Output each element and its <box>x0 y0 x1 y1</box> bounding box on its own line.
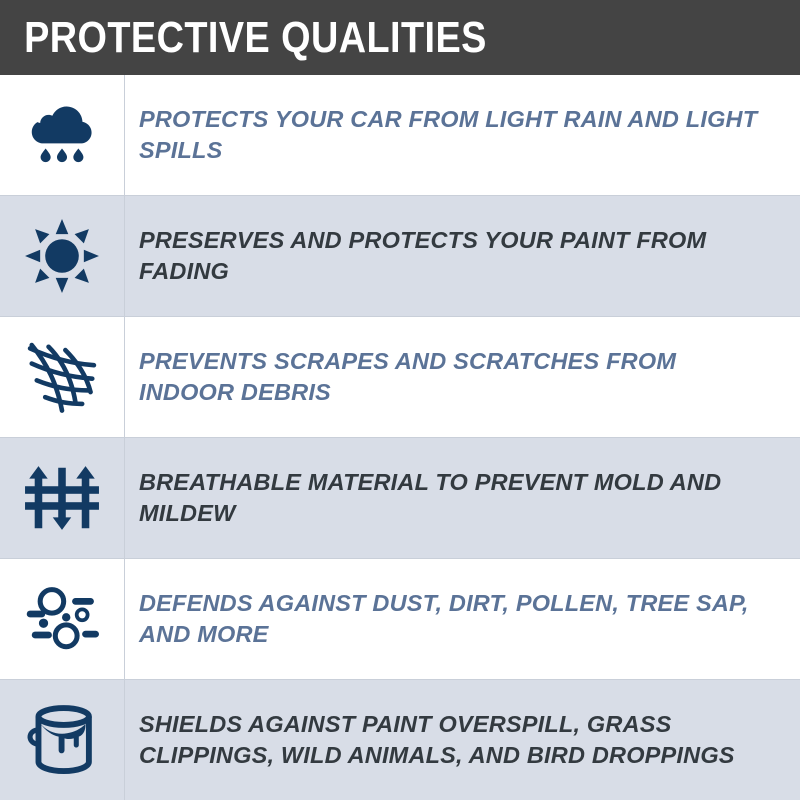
breathable-airflow-icon <box>20 456 104 540</box>
text-cell: PREVENTS SCRAPES AND SCRATCHES FROM INDO… <box>125 317 800 437</box>
mesh-net-icon <box>20 335 104 419</box>
feature-row: BREATHABLE MATERIAL TO PREVENT MOLD AND … <box>0 438 800 559</box>
text-cell: BREATHABLE MATERIAL TO PREVENT MOLD AND … <box>125 438 800 558</box>
page-title: PROTECTIVE QUALITIES <box>0 16 487 60</box>
text-cell: PROTECTS YOUR CAR FROM LIGHT RAIN AND LI… <box>125 75 800 195</box>
feature-row: SHIELDS AGAINST PAINT OVERSPILL, GRASS C… <box>0 680 800 800</box>
icon-cell <box>0 75 125 195</box>
header-bar: PROTECTIVE QUALITIES <box>0 0 800 75</box>
feature-row: DEFENDS AGAINST DUST, DIRT, POLLEN, TREE… <box>0 559 800 680</box>
text-cell: SHIELDS AGAINST PAINT OVERSPILL, GRASS C… <box>125 680 800 800</box>
feature-text: PRESERVES AND PROTECTS YOUR PAINT FROM F… <box>139 225 778 287</box>
feature-row: PRESERVES AND PROTECTS YOUR PAINT FROM F… <box>0 196 800 317</box>
feature-row: PREVENTS SCRAPES AND SCRATCHES FROM INDO… <box>0 317 800 438</box>
feature-text: DEFENDS AGAINST DUST, DIRT, POLLEN, TREE… <box>139 588 778 650</box>
text-cell: PRESERVES AND PROTECTS YOUR PAINT FROM F… <box>125 196 800 316</box>
rain-cloud-icon <box>20 93 104 177</box>
feature-list: PROTECTS YOUR CAR FROM LIGHT RAIN AND LI… <box>0 75 800 800</box>
dust-particles-icon <box>20 577 104 661</box>
feature-row: PROTECTS YOUR CAR FROM LIGHT RAIN AND LI… <box>0 75 800 196</box>
feature-text: BREATHABLE MATERIAL TO PREVENT MOLD AND … <box>139 467 778 529</box>
sun-icon <box>20 214 104 298</box>
feature-text: SHIELDS AGAINST PAINT OVERSPILL, GRASS C… <box>139 709 778 771</box>
icon-cell <box>0 680 125 800</box>
feature-text: PREVENTS SCRAPES AND SCRATCHES FROM INDO… <box>139 346 778 408</box>
icon-cell <box>0 317 125 437</box>
paint-can-icon <box>20 698 104 782</box>
icon-cell <box>0 196 125 316</box>
icon-cell <box>0 438 125 558</box>
feature-text: PROTECTS YOUR CAR FROM LIGHT RAIN AND LI… <box>139 104 778 166</box>
icon-cell <box>0 559 125 679</box>
text-cell: DEFENDS AGAINST DUST, DIRT, POLLEN, TREE… <box>125 559 800 679</box>
protective-qualities-infographic: PROTECTIVE QUALITIES PROTEC <box>0 0 800 800</box>
